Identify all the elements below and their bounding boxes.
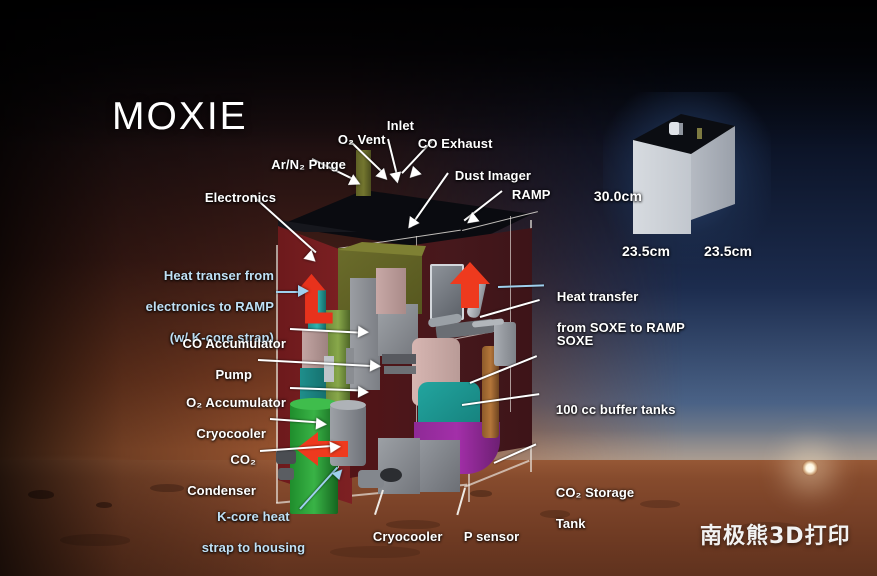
detail-chip-d (384, 366, 416, 374)
dimension-inset (625, 108, 747, 243)
page-title: MOXIE (112, 95, 248, 139)
p-sensor-block-a (378, 438, 420, 494)
inset-vent-nub (697, 128, 702, 139)
label-k-core-strap: K-core heat strap to housing (186, 494, 306, 571)
watermark: 南极熊3D打印 (700, 518, 851, 550)
arrowhead-cryocooler-left (316, 418, 328, 431)
label-heat-transfer-soxe-l1: Heat transfer (557, 289, 639, 304)
arrowhead-co-accumulator (358, 326, 370, 339)
label-co-accumulator-text: CO Accumulator (183, 336, 287, 351)
right-grey-canister (494, 322, 516, 366)
label-heat-transfer-electronics-l1: Heat transer from (164, 268, 274, 283)
label-p-sensor-text: P sensor (464, 529, 519, 544)
pink-accumulator (376, 268, 406, 314)
label-ramp-text: RAMP (512, 187, 551, 202)
label-soxe: SOXE (542, 318, 593, 364)
p-sensor-block-b (420, 440, 460, 492)
arrowhead-heat-transfer-soxe-upper (487, 280, 498, 292)
label-buffer-tanks-text: 100 cc buffer tanks (556, 402, 676, 417)
moxie-diagram-image: MOXIE 30.0cm 23.5cm 23.5cm (0, 0, 877, 576)
label-electronics: Electronics (190, 175, 276, 221)
bottom-dark-fitting (380, 468, 402, 482)
label-cryocooler-bottom: Cryocooler (358, 514, 443, 560)
detail-chip-c (382, 354, 416, 364)
label-k-core-strap-l1: K-core heat (217, 509, 290, 524)
label-co2-storage-tank-l1: CO₂ Storage (556, 485, 634, 500)
label-buffer-tanks: 100 cc buffer tanks (541, 387, 676, 433)
left-lower-fitting-2 (278, 468, 294, 480)
label-heat-transfer-electronics-l2: electronics to RAMP (146, 299, 274, 314)
label-cryocooler-bottom-text: Cryocooler (373, 529, 443, 544)
label-co2-storage-tank: CO₂ Storage Tank (541, 470, 634, 547)
ramp-frame-vert-c (510, 216, 511, 412)
arrowhead-buffer-tanks (444, 401, 457, 414)
label-co2-condenser-l1: CO₂ (230, 452, 256, 467)
inset-inlet-nub-shadow (679, 123, 683, 135)
arrowhead-co2-condenser (330, 441, 342, 454)
left-lower-fitting (276, 450, 296, 464)
leader-heat-transfer-electronics (276, 291, 300, 293)
label-k-core-strap-l2: strap to housing (202, 540, 305, 555)
inset-box-front-face (633, 140, 691, 234)
label-co-exhaust-text: CO Exhaust (418, 136, 493, 151)
inset-width-label: 23.5cm (610, 243, 682, 260)
inset-height-label: 30.0cm (576, 188, 642, 205)
label-ramp: RAMP (497, 172, 551, 218)
label-soxe-text: SOXE (557, 333, 594, 348)
heat-arrow-soxe-icon (450, 262, 490, 308)
label-electronics-text: Electronics (205, 190, 276, 205)
arrowhead-pump (370, 360, 382, 373)
arrowhead-o2-accumulator (358, 386, 369, 398)
detail-chip-a (324, 356, 334, 382)
heat-arrow-electronics-icon (298, 272, 340, 328)
label-p-sensor: P sensor (449, 514, 519, 560)
arrowhead-heat-transfer-electronics (298, 285, 309, 297)
label-co2-storage-tank-l2: Tank (556, 516, 586, 531)
inset-depth-label: 23.5cm (692, 243, 764, 260)
cryocooler-grey-barrel-top (330, 400, 366, 410)
wireframe-left-vertical (276, 245, 278, 503)
label-o2-accumulator-text: O₂ Accumulator (186, 395, 286, 410)
